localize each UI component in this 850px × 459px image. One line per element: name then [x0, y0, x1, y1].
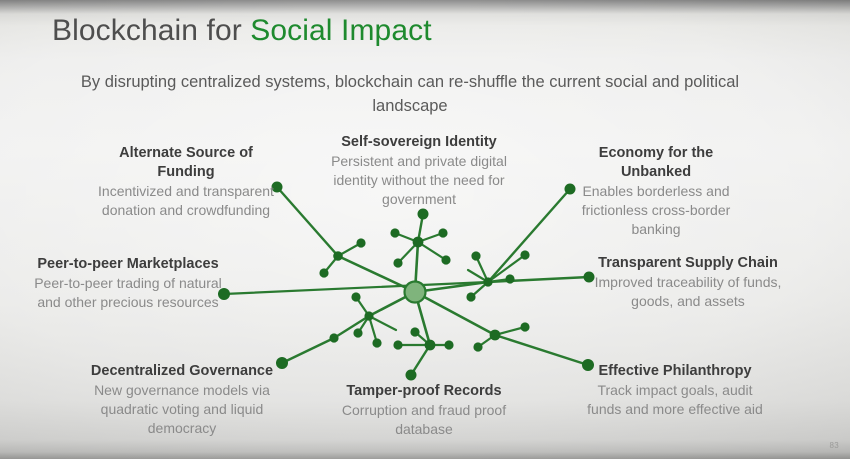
edge-lower-right-leaf-2	[478, 335, 495, 347]
edge-p2p-to-right-subhub	[224, 282, 488, 294]
label-title: Self-sovereign Identity	[320, 133, 518, 152]
graph-leaf-nodes	[319, 228, 529, 351]
edge-hub-subhub-right	[415, 282, 488, 292]
leaf-node	[353, 328, 362, 337]
edge-top-leaf-4	[418, 242, 446, 260]
leaf-node	[444, 340, 453, 349]
page-title-accent: Social Impact	[250, 14, 431, 47]
edge-bottom-leaf-1	[415, 332, 430, 345]
concept-node-self-sovereign-identity[interactable]	[418, 209, 429, 220]
subhub-node-lower-right[interactable]	[490, 330, 501, 341]
edge-hub-subhub-upper-left	[338, 256, 415, 292]
edge-philanthropy-to-lower-right-subhub	[495, 335, 588, 365]
subhub-node-right[interactable]	[483, 277, 492, 286]
label-transparent-supply-chain: Transparent Supply Chain Improved tracea…	[590, 254, 786, 311]
edge-lower-left-leaf-3	[369, 316, 377, 343]
edge-supplychain-to-right-subhub	[488, 277, 589, 282]
label-desc: Improved traceability of funds, goods, a…	[590, 273, 786, 311]
leaf-node	[351, 292, 360, 301]
label-desc: Persistent and private digital identity …	[320, 152, 518, 209]
label-title: Peer-to-peer Marketplaces	[34, 255, 222, 274]
leaf-node	[471, 251, 480, 260]
subhub-node-bottom[interactable]	[425, 340, 436, 351]
edge-lower-right-leaf-1	[495, 327, 525, 335]
slide-canvas: Blockchain for Social Impact By disrupti…	[0, 0, 850, 459]
edge-top-leaf-2	[418, 233, 443, 242]
leaf-node	[390, 228, 399, 237]
edge-right-leaf-4	[471, 282, 488, 297]
label-peer-to-peer-marketplaces: Peer-to-peer Marketplaces Peer-to-peer t…	[34, 255, 222, 312]
leaf-node	[473, 342, 482, 351]
label-alternate-source-of-funding: Alternate Source of Funding Incentivized…	[96, 144, 276, 220]
label-tamper-proof-records: Tamper-proof Records Corruption and frau…	[330, 382, 518, 439]
label-desc: Incentivized and transparent donation an…	[96, 182, 276, 220]
edge-upper-left-leaf-1	[338, 243, 361, 256]
label-effective-philanthropy: Effective Philanthropy Track impact goal…	[580, 362, 770, 419]
edge-right-leaf-5	[468, 270, 488, 282]
label-desc: Track impact goals, audit funds and more…	[580, 381, 770, 419]
edge-top-leaf-3	[398, 242, 418, 263]
page-title-prefix: Blockchain for	[52, 14, 250, 47]
edge-top-leaf-1	[395, 233, 418, 242]
leaf-node	[466, 292, 475, 301]
leaf-node	[410, 327, 419, 336]
subhub-node-lower-left[interactable]	[364, 311, 373, 320]
label-desc: Peer-to-peer trading of natural and othe…	[34, 274, 222, 312]
label-desc: Corruption and fraud proof database	[330, 401, 518, 439]
label-title: Transparent Supply Chain	[590, 254, 786, 273]
subhub-node-upper-left[interactable]	[333, 251, 343, 261]
label-title: Decentralized Governance	[88, 362, 276, 381]
leaf-node	[438, 228, 447, 237]
label-decentralized-governance: Decentralized Governance New governance …	[88, 362, 276, 438]
graph-edges	[224, 187, 589, 375]
edge-lower-left-leaf-1	[356, 297, 369, 316]
label-title: Economy for the Unbanked	[566, 144, 746, 182]
leaf-node	[372, 338, 381, 347]
page-number: 83	[830, 441, 840, 450]
edge-right-leaf-3	[488, 279, 510, 282]
label-self-sovereign-identity: Self-sovereign Identity Persistent and p…	[320, 133, 518, 209]
edge-hub-subhub-top	[415, 242, 418, 292]
slide-subtitle: By disrupting centralized systems, block…	[55, 70, 765, 118]
edge-tamperproof-to-bottom-subhub	[411, 345, 430, 375]
edge-hub-subhub-lower-left	[369, 292, 415, 316]
edge-identity-to-top-subhub	[418, 214, 423, 242]
leaf-node	[393, 340, 402, 349]
leaf-node	[356, 238, 365, 247]
concept-node-decentralized-governance[interactable]	[276, 357, 288, 369]
edge-lower-left-leaf-2	[358, 316, 369, 333]
label-economy-for-the-unbanked: Economy for the Unbanked Enables borderl…	[566, 144, 746, 239]
graph-subhub-nodes	[333, 237, 500, 351]
subhub-node-top[interactable]	[413, 237, 424, 248]
leaf-node	[319, 268, 328, 277]
leaf-node	[505, 274, 514, 283]
leaf-node	[520, 322, 529, 331]
edge-right-leaf-2	[488, 255, 525, 282]
label-title: Alternate Source of Funding	[96, 144, 276, 182]
central-hub-node[interactable]	[405, 282, 426, 303]
edge-right-leaf-1	[476, 256, 488, 282]
edge-hub-subhub-lower-right	[415, 292, 495, 335]
edge-upper-left-leaf-2	[324, 256, 338, 273]
edge-leaf-to-lower-left-subhub	[334, 316, 369, 338]
edge-governance-to-leaf	[282, 338, 334, 363]
leaf-node	[329, 333, 338, 342]
leaf-node	[520, 250, 529, 259]
label-desc: New governance models via quadratic voti…	[88, 381, 276, 438]
page-title: Blockchain for Social Impact	[52, 14, 432, 48]
edge-lower-left-leaf-4	[369, 316, 396, 330]
concept-node-tamper-proof-records[interactable]	[406, 370, 417, 381]
leaf-node	[393, 258, 402, 267]
label-title: Tamper-proof Records	[330, 382, 518, 401]
label-title: Effective Philanthropy	[580, 362, 770, 381]
edge-hub-subhub-bottom	[415, 292, 430, 345]
leaf-node	[441, 255, 450, 264]
label-desc: Enables borderless and frictionless cros…	[566, 182, 746, 239]
